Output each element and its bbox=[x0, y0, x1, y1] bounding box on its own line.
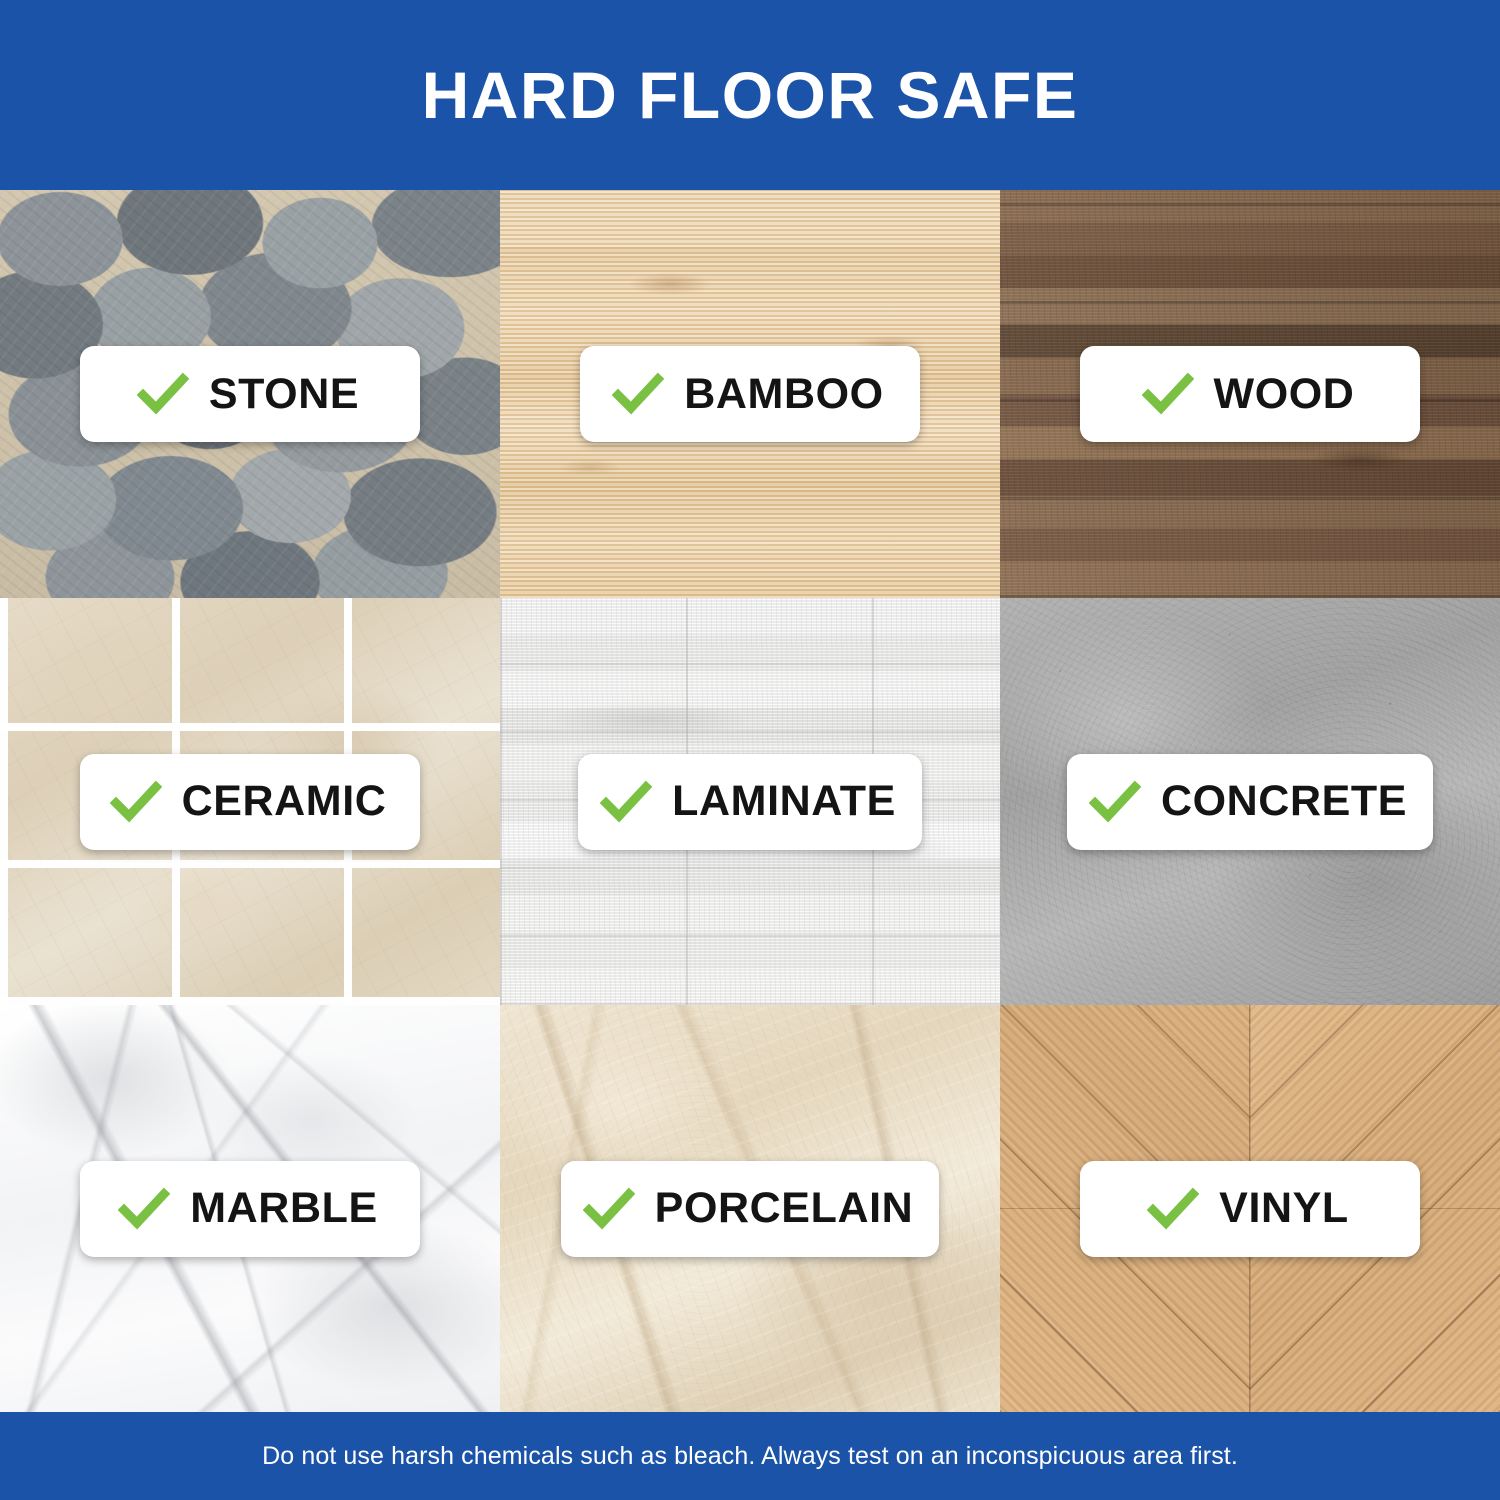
check-icon bbox=[1089, 776, 1141, 828]
care-instruction-note: Do not use harsh chemicals such as bleac… bbox=[262, 1442, 1238, 1471]
floor-badge-marble[interactable]: MARBLE bbox=[80, 1161, 420, 1257]
check-icon bbox=[110, 776, 162, 828]
check-icon bbox=[600, 776, 652, 828]
floor-badge-vinyl[interactable]: VINYL bbox=[1080, 1161, 1420, 1257]
check-icon bbox=[137, 368, 189, 420]
floor-label: BAMBOO bbox=[684, 373, 883, 416]
floor-badge-wood[interactable]: WOOD bbox=[1080, 346, 1420, 442]
check-icon bbox=[1142, 368, 1194, 420]
floor-label: CERAMIC bbox=[182, 780, 387, 823]
hard-floor-safe-infographic: HARD FLOOR SAFE STONE BAMBOO bbox=[0, 0, 1500, 1500]
floor-cell-wood: WOOD bbox=[1000, 190, 1500, 598]
check-icon bbox=[118, 1183, 170, 1235]
check-icon bbox=[612, 368, 664, 420]
floor-label: LAMINATE bbox=[672, 780, 896, 823]
floor-badge-laminate[interactable]: LAMINATE bbox=[578, 754, 922, 850]
floor-cell-bamboo: BAMBOO bbox=[500, 190, 1000, 598]
floor-label: WOOD bbox=[1214, 373, 1355, 416]
floor-badge-bamboo[interactable]: BAMBOO bbox=[580, 346, 920, 442]
floor-type-grid: STONE BAMBOO WOOD bbox=[0, 190, 1500, 1412]
floor-cell-concrete: CONCRETE bbox=[1000, 598, 1500, 1005]
floor-cell-ceramic: CERAMIC bbox=[0, 598, 500, 1005]
floor-cell-porcelain: PORCELAIN bbox=[500, 1005, 1000, 1412]
floor-label: CONCRETE bbox=[1161, 780, 1407, 823]
floor-label: STONE bbox=[209, 373, 359, 416]
check-icon bbox=[583, 1183, 635, 1235]
floor-cell-marble: MARBLE bbox=[0, 1005, 500, 1412]
floor-label: PORCELAIN bbox=[655, 1187, 914, 1230]
floor-label: MARBLE bbox=[190, 1187, 378, 1230]
floor-cell-stone: STONE bbox=[0, 190, 500, 598]
footer-banner: Do not use harsh chemicals such as bleac… bbox=[0, 1412, 1500, 1500]
check-icon bbox=[1147, 1183, 1199, 1235]
floor-badge-stone[interactable]: STONE bbox=[80, 346, 420, 442]
floor-badge-ceramic[interactable]: CERAMIC bbox=[80, 754, 420, 850]
header-banner: HARD FLOOR SAFE bbox=[0, 0, 1500, 190]
floor-badge-porcelain[interactable]: PORCELAIN bbox=[561, 1161, 940, 1257]
floor-cell-vinyl: VINYL bbox=[1000, 1005, 1500, 1412]
page-title: HARD FLOOR SAFE bbox=[422, 62, 1079, 128]
floor-label: VINYL bbox=[1219, 1187, 1349, 1230]
floor-badge-concrete[interactable]: CONCRETE bbox=[1067, 754, 1433, 850]
floor-cell-laminate: LAMINATE bbox=[500, 598, 1000, 1005]
